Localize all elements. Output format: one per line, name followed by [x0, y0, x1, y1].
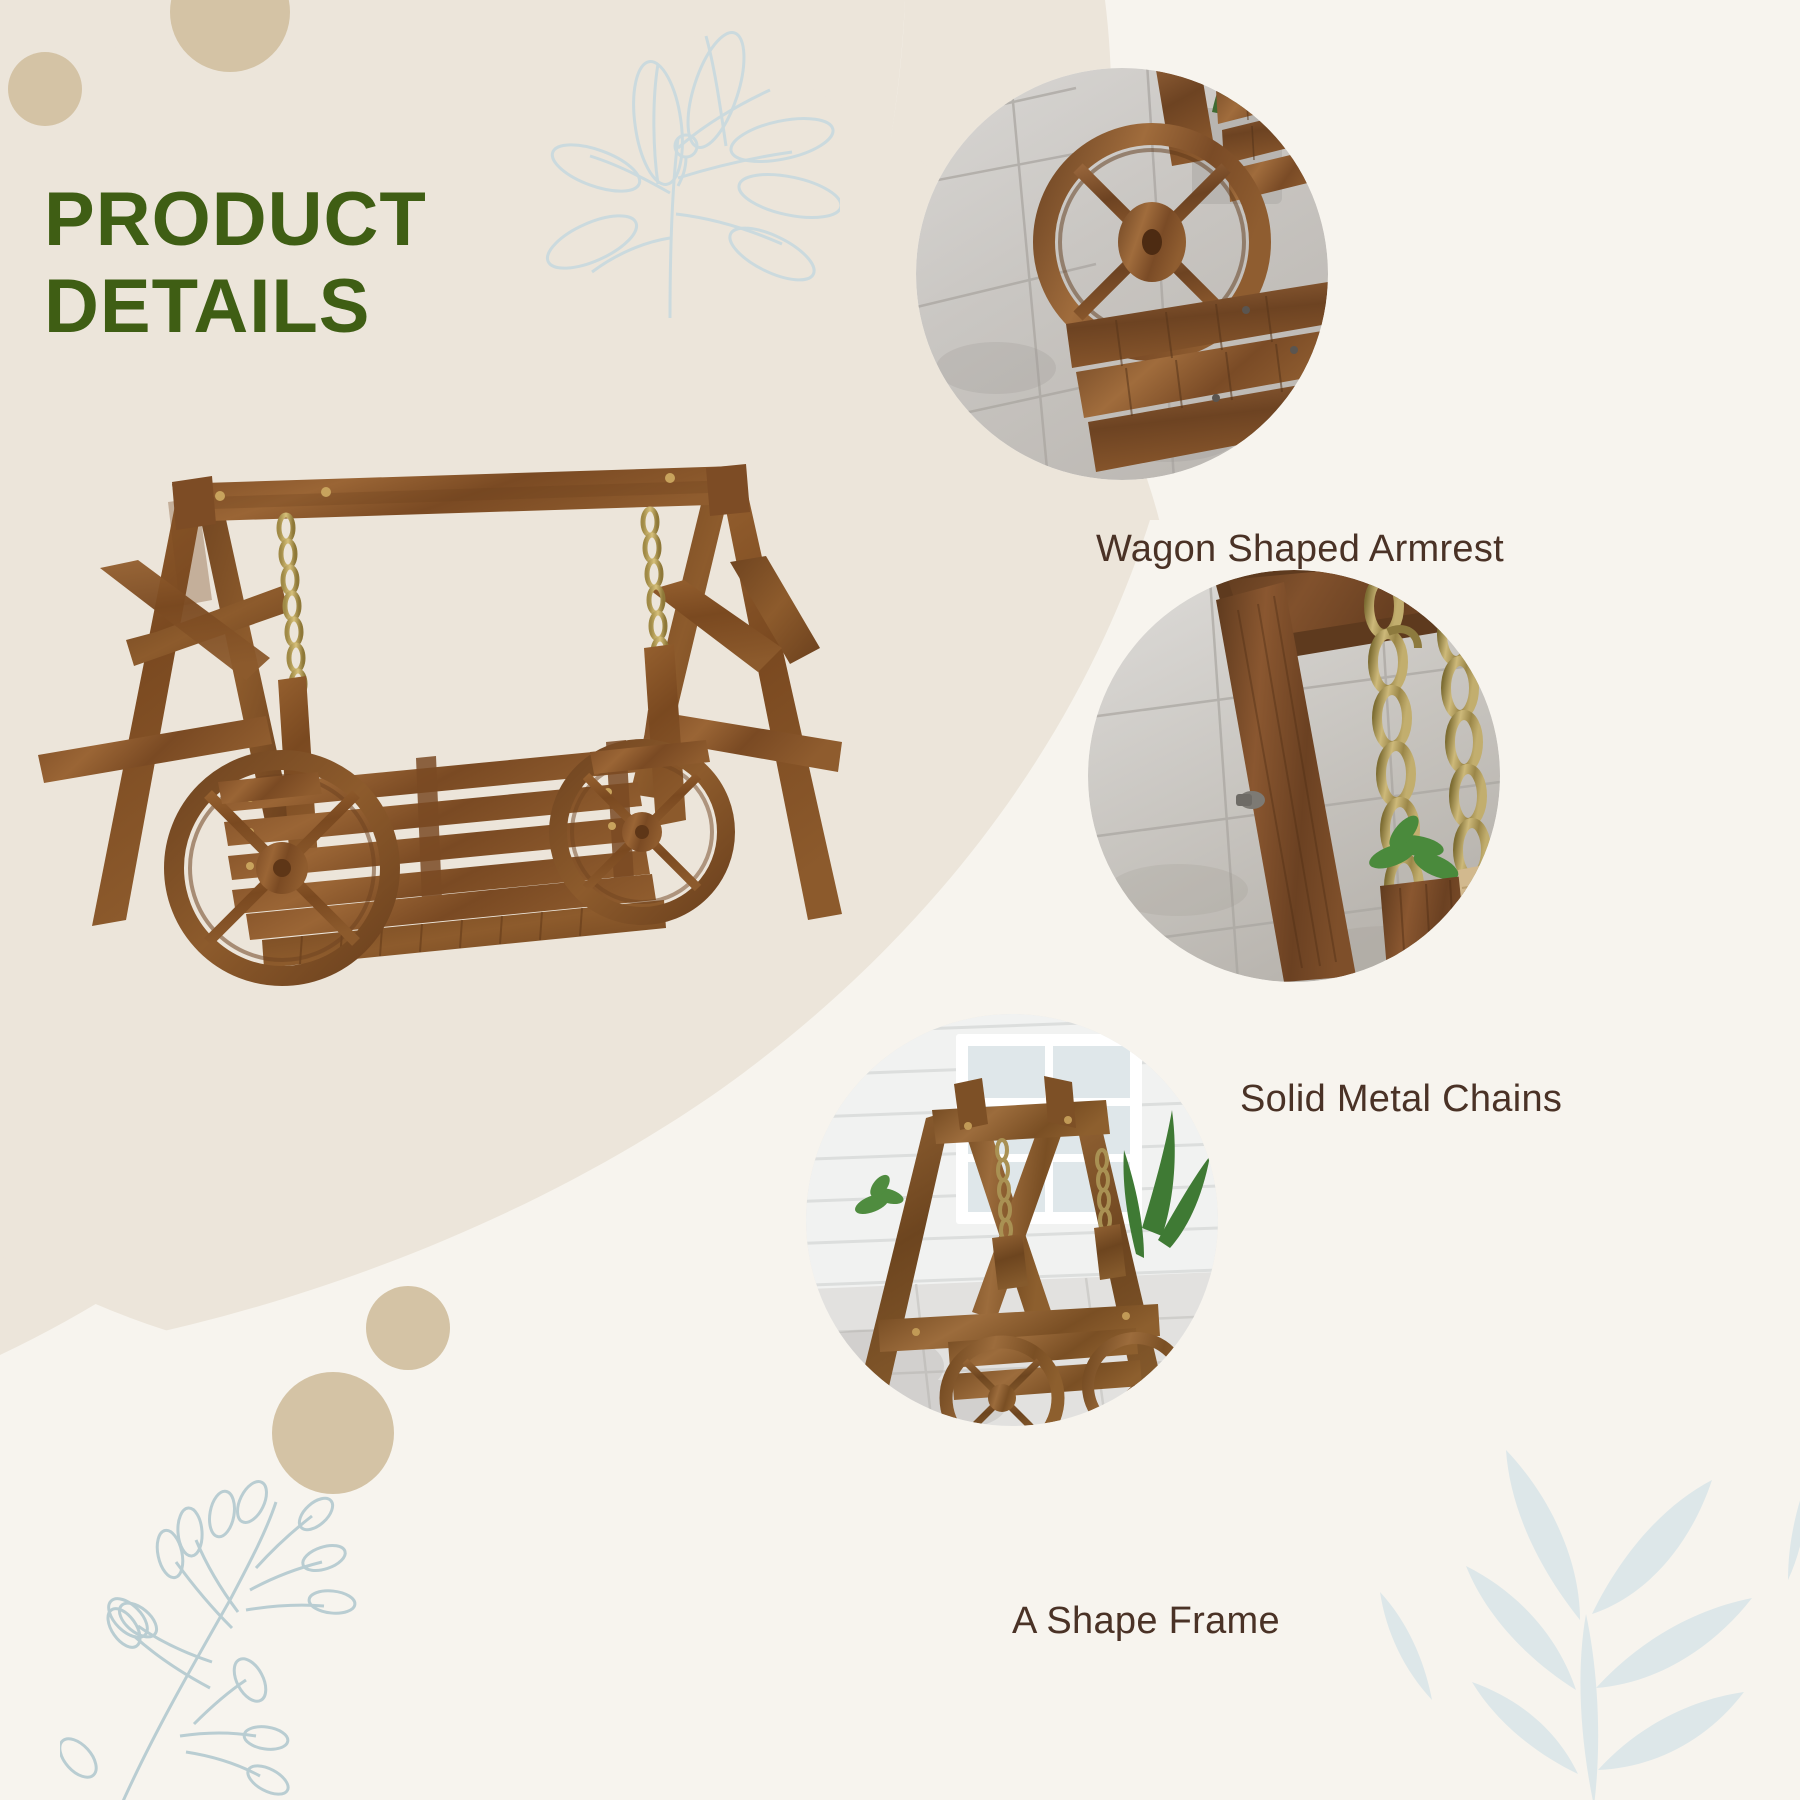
- bolt: [665, 473, 675, 483]
- feature-image-solid-metal-chains: [1088, 570, 1500, 982]
- leaf-cluster-bottom-right-icon: [1380, 1370, 1800, 1800]
- bolt: [215, 491, 225, 501]
- page-title: PRODUCT DETAILS: [44, 176, 427, 351]
- wagon-wheel-armrest-right: [558, 748, 726, 916]
- dot-bottom-left: [366, 1286, 450, 1370]
- bolt: [321, 487, 331, 497]
- swing-chain-left: [279, 515, 305, 697]
- infographic-canvas: PRODUCT DETAILS: [0, 0, 1800, 1800]
- leaf-sprig-top-icon: [520, 28, 840, 328]
- feature-caption-solid-metal-chains: Solid Metal Chains: [1240, 1078, 1562, 1121]
- dot-top-left-small: [8, 52, 82, 126]
- feature-caption-a-shape-frame: A Shape Frame: [1012, 1600, 1280, 1643]
- hero-product-image: [30, 380, 890, 1080]
- page-title-line-1: PRODUCT: [44, 177, 427, 262]
- feature-image-wagon-shaped-armrest: [916, 68, 1328, 480]
- feature-image-a-shape-frame: [806, 1014, 1218, 1426]
- branch-buds-bottom-left-icon: [60, 1440, 390, 1800]
- feature-caption-wagon-shaped-armrest: Wagon Shaped Armrest: [1096, 528, 1504, 571]
- page-title-line-2: DETAILS: [44, 263, 427, 350]
